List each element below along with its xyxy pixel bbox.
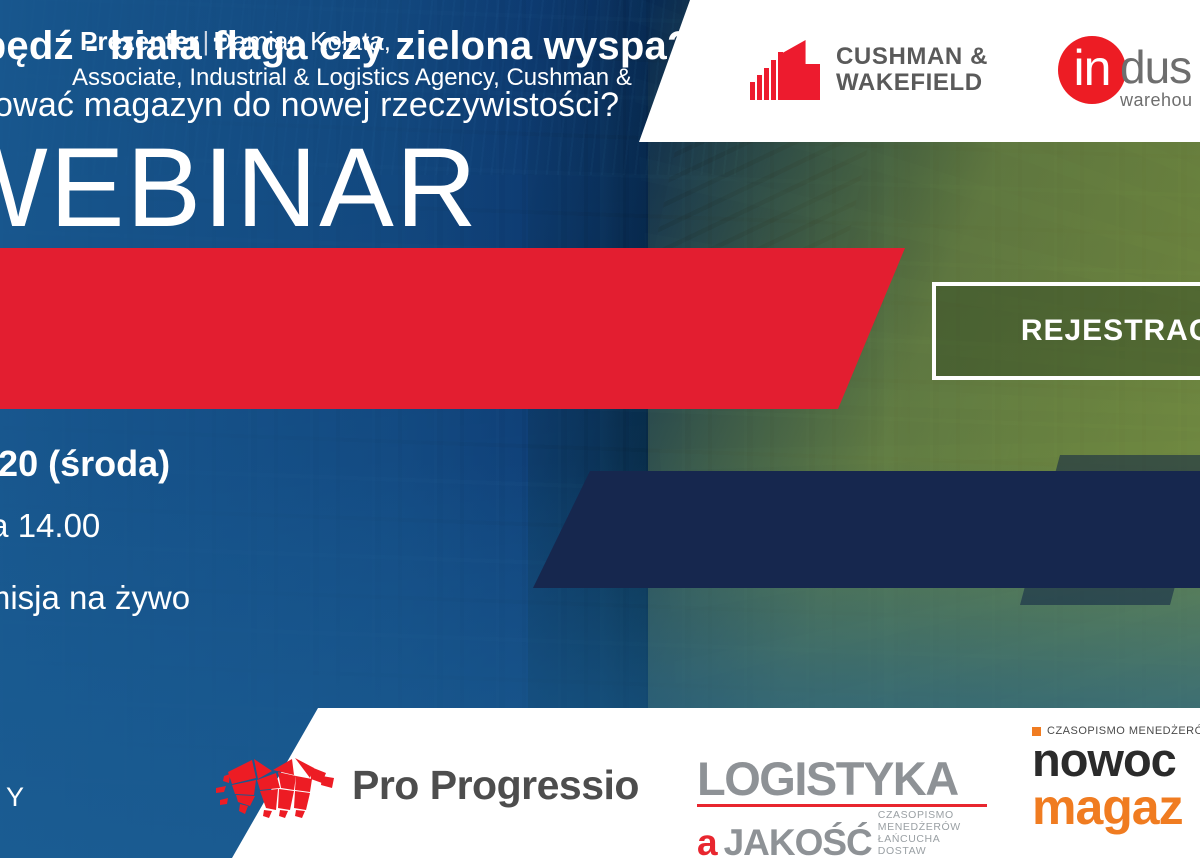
logistyka-tagline-2: ŁAŃCUCHA DOSTAW <box>878 833 987 857</box>
nowoczesny-magazyn-logo: CZASOPISMO MENEDŻERÓW ( nowoc magaz <box>1032 725 1200 831</box>
cushman-wordmark: CUSHMAN & WAKEFIELD <box>836 44 988 96</box>
nowoczesny-word: nowoc <box>1032 737 1200 783</box>
industrial-warehouse-logo: in dus warehou <box>1058 36 1193 111</box>
presenter-name-line: Prezenter|Damian Kołata, <box>80 26 391 57</box>
presenter-name: Damian Kołata, <box>213 26 391 56</box>
hero-webinar-title: WEBINAR <box>0 132 479 244</box>
presenter-role: Associate, Industrial & Logistics Agency… <box>72 64 632 92</box>
logistyka-a: a <box>697 826 718 858</box>
indus-sub-text: warehou <box>1120 90 1193 111</box>
logistyka-tagline-1: CZASOPISMO MENEDŻERÓW <box>878 809 987 833</box>
webinar-poster: CUSHMAN & WAKEFIELD in dus warehou WEBIN… <box>0 0 1200 858</box>
event-date: 04.20 (środa) <box>0 438 190 490</box>
red-title-banner <box>0 248 905 409</box>
pro-progressio-logo: Pro Progressio <box>210 748 639 822</box>
tiger-icon <box>210 748 338 822</box>
cushman-line-1: CUSHMAN & <box>836 44 988 70</box>
logistyka-tagline: CZASOPISMO MENEDŻERÓW ŁAŃCUCHA DOSTAW <box>878 809 987 858</box>
presenter-label: Prezenter <box>80 26 199 56</box>
cushman-wakefield-logo: CUSHMAN & WAKEFIELD <box>750 40 988 100</box>
indus-circle-icon: in <box>1058 36 1126 104</box>
magazyn-word: magaz <box>1032 783 1200 831</box>
registration-button-label: REJESTRACJ <box>935 314 1200 348</box>
registration-button[interactable]: REJESTRACJ <box>932 282 1200 380</box>
logistyka-a-jakosc-logo: LOGISTYKA a JAKOŚĆ CZASOPISMO MENEDŻERÓW… <box>697 757 987 858</box>
pro-progressio-wordmark: Pro Progressio <box>352 762 639 809</box>
presenter-separator: | <box>199 26 214 56</box>
cushman-building-icon <box>750 40 820 100</box>
event-details: 04.20 (środa) zina 14.00 nsmisja na żywo <box>0 438 190 634</box>
event-mode: nsmisja na żywo <box>0 562 190 634</box>
partners-heading: RZY <box>0 782 31 813</box>
cushman-line-2: WAKEFIELD <box>836 70 988 96</box>
logistyka-word: LOGISTYKA <box>697 757 987 801</box>
jakosc-word: JAKOŚĆ <box>724 826 872 858</box>
presenter-panel <box>533 471 1200 588</box>
indus-wordmark: dus warehou <box>1120 36 1193 111</box>
indus-main-text: dus <box>1120 36 1193 98</box>
event-time: zina 14.00 <box>0 490 190 562</box>
